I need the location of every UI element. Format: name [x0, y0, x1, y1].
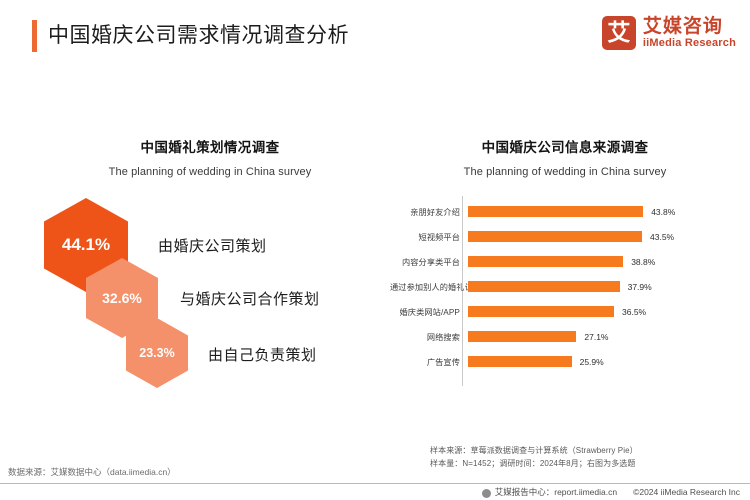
page-footer: 艾媒报告中心：report.iimedia.cn ©2024 iiMedia R… [0, 484, 750, 500]
brand-logo: 艾 艾媒咨询 iiMedia Research [602, 16, 736, 50]
bar-category-label: 网络搜索 [390, 331, 465, 343]
hexagon-category-label: 由自己负责策划 [208, 344, 317, 365]
bar-track: 37.9% [468, 274, 740, 299]
bar-track: 38.8% [468, 249, 740, 274]
note-sample-size: 样本量：N=1452；调研时间：2024年8月；右图为多选题 [430, 457, 638, 470]
bar-row[interactable]: 网络搜索27.1% [390, 324, 740, 349]
bar-row[interactable]: 婚庆类网站/APP36.5% [390, 299, 740, 324]
bar-value-label: 36.5% [622, 307, 646, 317]
footer-copyright: ©2024 iiMedia Research Inc [633, 487, 740, 497]
hexagon-value-label: 23.3% [139, 346, 174, 360]
bar-category-label: 通过参加别人的婚礼认识 [390, 281, 465, 293]
bar-row[interactable]: 亲朋好友介绍43.8% [390, 199, 740, 224]
bar-value-label: 43.5% [650, 232, 674, 242]
logo-name-cn: 艾媒咨询 [643, 17, 736, 36]
page-title-group: 中国婚庆公司需求情况调查分析 [32, 20, 349, 52]
note-sample-source: 样本来源：草莓派数据调查与计算系统（Strawberry Pie） [430, 444, 638, 457]
right-chart-title: 中国婚庆公司信息来源调查 [390, 136, 740, 156]
data-source-text: 数据来源：艾媒数据中心（data.iimedia.cn） [8, 466, 176, 478]
bar-row[interactable]: 通过参加别人的婚礼认识37.9% [390, 274, 740, 299]
bar-row[interactable]: 短视频平台43.5% [390, 224, 740, 249]
bar-row[interactable]: 内容分享类平台38.8% [390, 249, 740, 274]
bar-value-label: 37.9% [628, 282, 652, 292]
left-chart-title: 中国婚礼策划情况调查 [30, 136, 390, 156]
bar-fill [468, 206, 643, 217]
bar-track: 27.1% [468, 324, 740, 349]
title-accent-bar [32, 20, 37, 52]
bar-fill [468, 256, 623, 267]
bar-track: 43.5% [468, 224, 740, 249]
report-center-icon [482, 489, 491, 498]
footer-report-center[interactable]: 艾媒报告中心：report.iimedia.cn [495, 486, 617, 498]
left-chart-subtitle: The planning of wedding in China survey [30, 166, 390, 178]
bar-category-label: 亲朋好友介绍 [390, 206, 465, 218]
chart-notes: 样本来源：草莓派数据调查与计算系统（Strawberry Pie） 样本量：N=… [430, 444, 638, 470]
bar-category-label: 短视频平台 [390, 231, 465, 243]
hexagon-value-label: 32.6% [102, 290, 142, 306]
hexagon-category-label: 与婚庆公司合作策划 [180, 288, 320, 309]
bar-value-label: 38.8% [631, 257, 655, 267]
bar-track: 25.9% [468, 349, 740, 374]
bar-fill [468, 356, 572, 367]
bar-category-label: 内容分享类平台 [390, 256, 465, 268]
page-title: 中国婚庆公司需求情况调查分析 [48, 20, 349, 52]
bar-track: 36.5% [468, 299, 740, 324]
hexagon-chart: 44.1% 32.6% 23.3% 由婚庆公司策划 与婚庆公司合作策划 由自己负… [30, 194, 390, 394]
bar-value-label: 25.9% [580, 357, 604, 367]
bar-fill [468, 331, 576, 342]
hexagon-category-label: 由婚庆公司策划 [158, 235, 267, 256]
logo-mark-icon: 艾 [602, 16, 636, 50]
chart-panel-wedding-planning: 中国婚礼策划情况调查 The planning of wedding in Ch… [30, 136, 390, 416]
bar-row[interactable]: 广告宣传25.9% [390, 349, 740, 374]
logo-text-group: 艾媒咨询 iiMedia Research [643, 17, 736, 49]
bar-fill [468, 281, 620, 292]
page-header: 中国婚庆公司需求情况调查分析 艾 艾媒咨询 iiMedia Research [0, 0, 750, 72]
logo-name-en: iiMedia Research [643, 38, 736, 49]
logo-mark-glyph: 艾 [607, 22, 630, 45]
chart-panel-info-sources: 中国婚庆公司信息来源调查 The planning of wedding in … [390, 136, 740, 416]
bar-fill [468, 306, 614, 317]
bar-category-label: 婚庆类网站/APP [390, 306, 465, 318]
bar-value-label: 27.1% [584, 332, 608, 342]
bar-value-label: 43.8% [651, 207, 675, 217]
right-chart-subtitle: The planning of wedding in China survey [390, 166, 740, 178]
bar-fill [468, 231, 642, 242]
horizontal-bar-chart: 亲朋好友介绍43.8%短视频平台43.5%内容分享类平台38.8%通过参加别人的… [390, 196, 740, 386]
hexagon-value-label: 44.1% [62, 235, 110, 255]
bar-track: 43.8% [468, 199, 740, 224]
bar-category-label: 广告宣传 [390, 356, 465, 368]
